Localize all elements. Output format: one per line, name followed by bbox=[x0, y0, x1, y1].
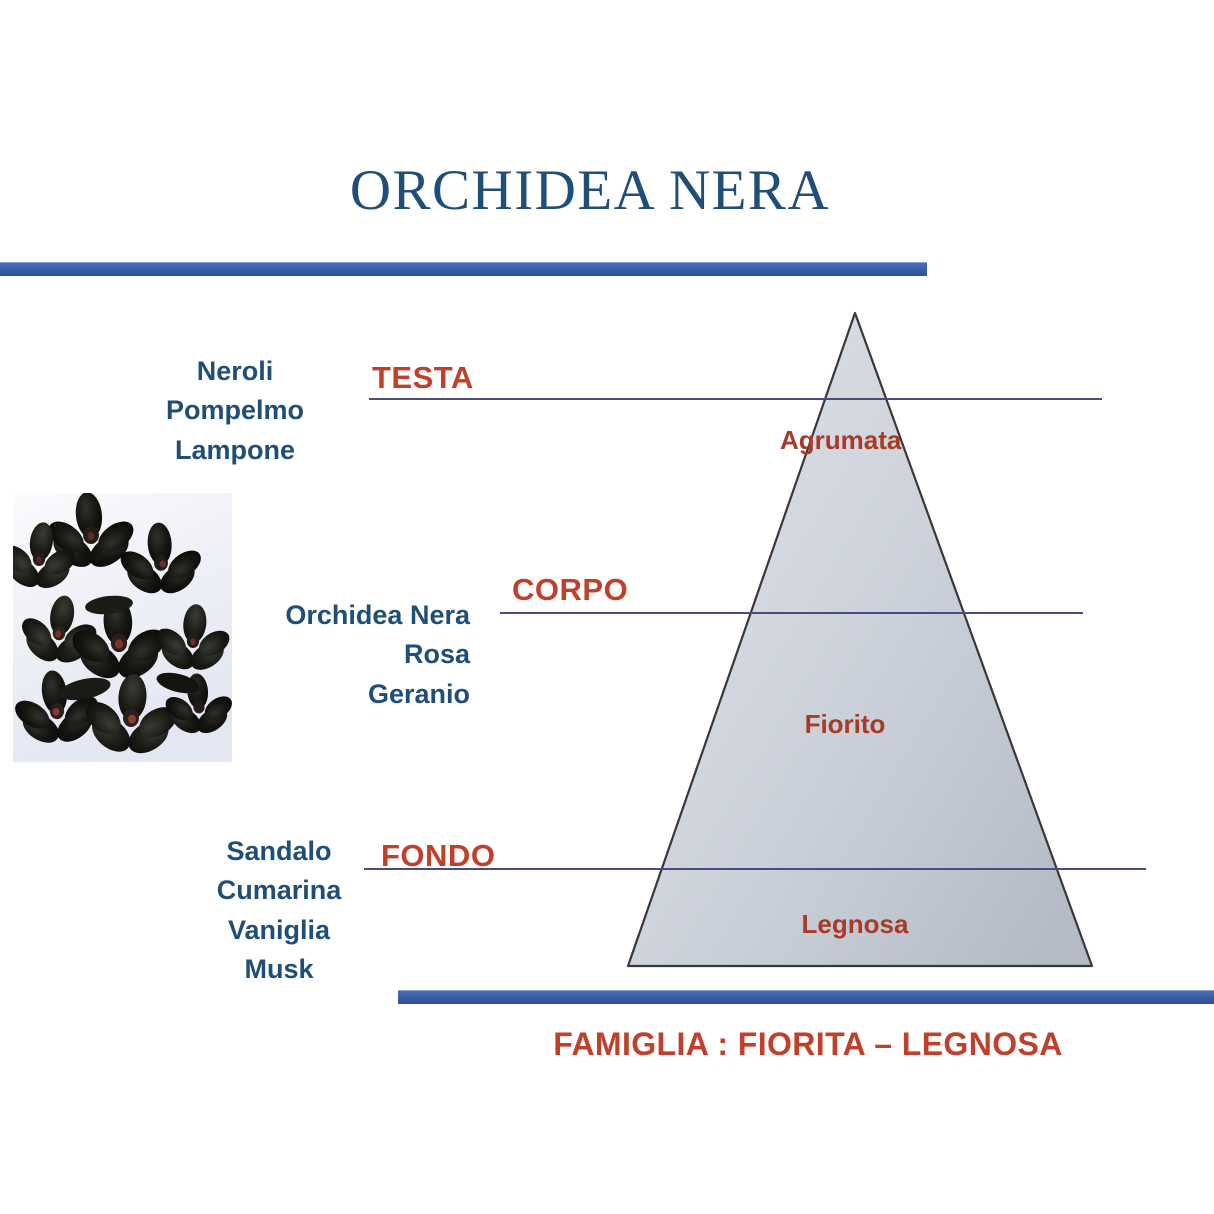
stage-label-testa: TESTA bbox=[372, 360, 474, 396]
note-item: Neroli bbox=[150, 352, 320, 391]
notes-list-testa: Neroli Pompelmo Lampone bbox=[150, 352, 320, 470]
note-item: Lampone bbox=[150, 431, 320, 470]
note-item: Sandalo bbox=[210, 832, 348, 871]
slide-canvas: ORCHIDEA NERA bbox=[0, 0, 1214, 1214]
notes-list-fondo: Sandalo Cumarina Vaniglia Musk bbox=[210, 832, 348, 990]
note-item: Orchidea Nera bbox=[250, 596, 470, 635]
stage-label-corpo: CORPO bbox=[512, 572, 628, 608]
accord-label-fiorito: Fiorito bbox=[745, 709, 945, 740]
note-item: Geranio bbox=[250, 675, 470, 714]
testa-separator-line bbox=[369, 398, 1102, 400]
note-item: Musk bbox=[210, 950, 348, 989]
stage-label-fondo: FONDO bbox=[381, 838, 495, 874]
accord-label-legnosa: Legnosa bbox=[745, 909, 965, 940]
corpo-separator-line bbox=[500, 612, 1083, 614]
accord-label-agrumata: Agrumata bbox=[780, 422, 916, 459]
note-item: Cumarina bbox=[210, 871, 348, 910]
bottom-divider-bar bbox=[398, 990, 1214, 1004]
black-orchid-photo bbox=[13, 493, 232, 762]
orchid-illustration bbox=[13, 493, 232, 762]
fragrance-pyramid-shape bbox=[600, 300, 1120, 990]
page-title: ORCHIDEA NERA bbox=[0, 158, 1180, 223]
note-item: Vaniglia bbox=[210, 911, 348, 950]
note-item: Pompelmo bbox=[150, 391, 320, 430]
top-divider-bar bbox=[0, 262, 927, 276]
notes-list-corpo: Orchidea Nera Rosa Geranio bbox=[250, 596, 470, 714]
note-item: Rosa bbox=[250, 635, 470, 674]
fragrance-family-caption: FAMIGLIA : FIORITA – LEGNOSA bbox=[400, 1026, 1214, 1063]
